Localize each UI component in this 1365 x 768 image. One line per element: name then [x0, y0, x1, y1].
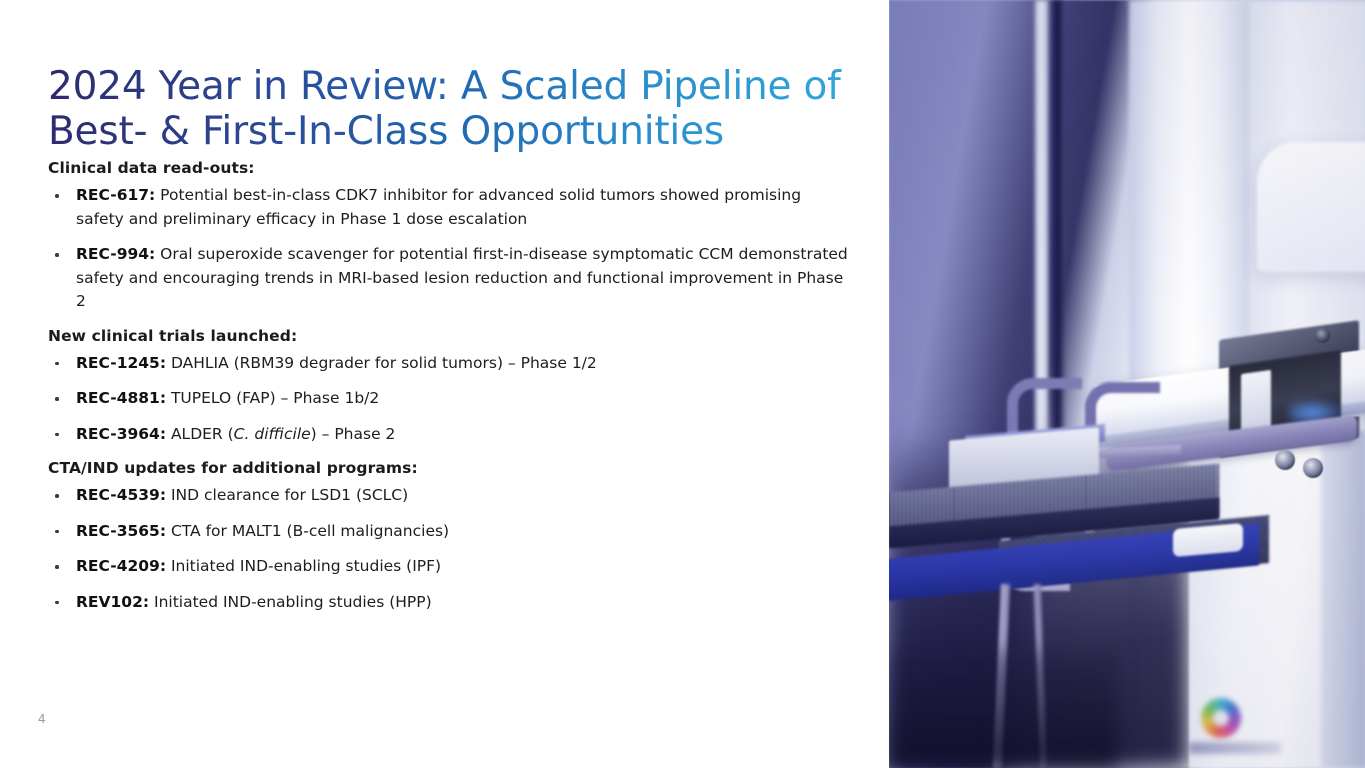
bullet-dot-icon	[55, 194, 59, 198]
body-content: Clinical data read-outs: REC-617: Potent…	[48, 158, 848, 626]
page-number: 4	[38, 712, 46, 726]
list-item: REC-994: Oral superoxide scavenger for p…	[48, 243, 848, 314]
bullet-label: REC-3964:	[76, 425, 166, 443]
bullet-label: REC-994:	[76, 245, 155, 263]
bullet-text: Oral superoxide scavenger for potential …	[76, 245, 848, 310]
bullet-text: Initiated IND-enabling studies (HPP)	[149, 593, 432, 611]
bullet-list: REC-4539: IND clearance for LSD1 (SCLC) …	[48, 484, 848, 614]
list-item: REC-3565: CTA for MALT1 (B-cell malignan…	[48, 520, 848, 544]
bullet-dot-icon	[55, 433, 59, 437]
list-item: REC-4881: TUPELO (FAP) – Phase 1b/2	[48, 387, 848, 411]
list-item: REV102: Initiated IND-enabling studies (…	[48, 591, 848, 615]
page-title: 2024 Year in Review: A Scaled Pipeline o…	[48, 64, 848, 154]
section-heading: New clinical trials launched:	[48, 326, 848, 346]
bullet-label: REC-4881:	[76, 389, 166, 407]
bullet-dot-icon	[55, 397, 59, 401]
bullet-dot-icon	[55, 253, 59, 257]
bullet-label: REC-4209:	[76, 557, 166, 575]
bullet-label: REC-617:	[76, 186, 155, 204]
bullet-text: CTA for MALT1 (B-cell malignancies)	[166, 522, 449, 540]
bullet-label: REC-3565:	[76, 522, 166, 540]
bullet-list: REC-617: Potential best-in-class CDK7 in…	[48, 184, 848, 314]
bullet-text: TUPELO (FAP) – Phase 1b/2	[166, 389, 379, 407]
bullet-text: DAHLIA (RBM39 degrader for solid tumors)…	[166, 354, 597, 372]
bullet-dot-icon	[55, 494, 59, 498]
bullet-text-post: ) – Phase 2	[311, 425, 396, 443]
slide-content: 2024 Year in Review: A Scaled Pipeline o…	[0, 0, 889, 768]
bullet-text: Initiated IND-enabling studies (IPF)	[166, 557, 441, 575]
bullet-list: REC-1245: DAHLIA (RBM39 degrader for sol…	[48, 352, 848, 447]
bullet-dot-icon	[55, 362, 59, 366]
section-heading: Clinical data read-outs:	[48, 158, 848, 178]
bullet-dot-icon	[55, 565, 59, 569]
list-item: REC-3964: ALDER (C. difficile) – Phase 2	[48, 423, 848, 447]
list-item: REC-617: Potential best-in-class CDK7 in…	[48, 184, 848, 231]
list-item: REC-1245: DAHLIA (RBM39 degrader for sol…	[48, 352, 848, 376]
section-new-clinical-trials: New clinical trials launched: REC-1245: …	[48, 326, 848, 447]
bullet-text-italic: C. difficile	[234, 425, 311, 443]
bullet-dot-icon	[55, 601, 59, 605]
bullet-dot-icon	[55, 530, 59, 534]
lab-automation-photo	[889, 0, 1365, 768]
bullet-label: REC-4539:	[76, 486, 166, 504]
section-heading: CTA/IND updates for additional programs:	[48, 458, 848, 478]
bullet-text-pre: ALDER (	[166, 425, 234, 443]
list-item: REC-4209: Initiated IND-enabling studies…	[48, 555, 848, 579]
list-item: REC-4539: IND clearance for LSD1 (SCLC)	[48, 484, 848, 508]
bullet-text: IND clearance for LSD1 (SCLC)	[166, 486, 408, 504]
photo-depth-veil	[889, 0, 1365, 768]
section-clinical-data-readouts: Clinical data read-outs: REC-617: Potent…	[48, 158, 848, 314]
bullet-label: REV102:	[76, 593, 149, 611]
slide: 2024 Year in Review: A Scaled Pipeline o…	[0, 0, 1365, 768]
section-cta-ind-updates: CTA/IND updates for additional programs:…	[48, 458, 848, 614]
bullet-label: REC-1245:	[76, 354, 166, 372]
bullet-text: Potential best-in-class CDK7 inhibitor f…	[76, 186, 801, 228]
